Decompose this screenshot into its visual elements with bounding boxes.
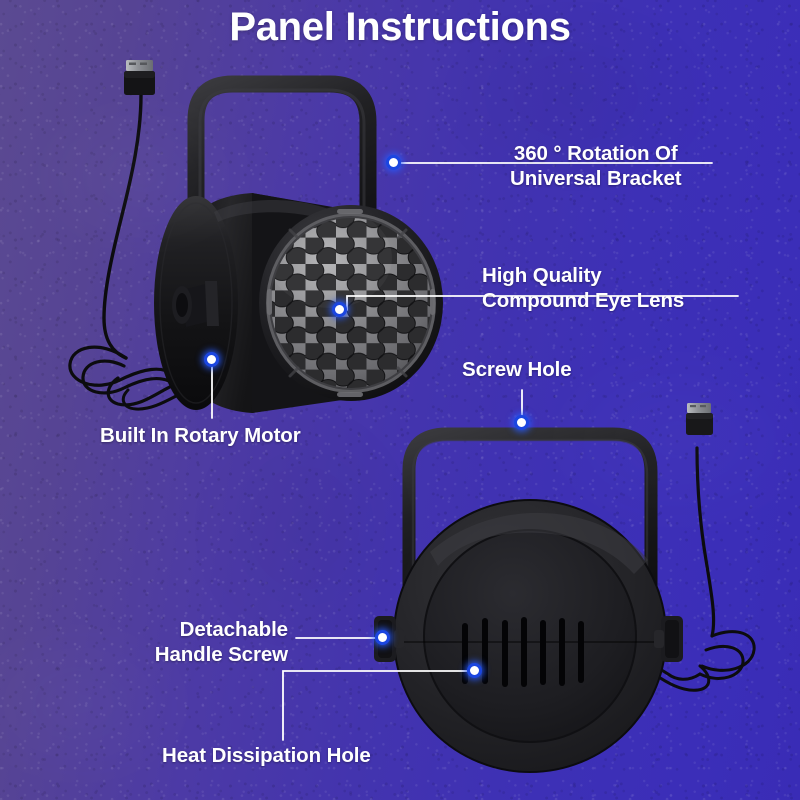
callout-dot-rotation[interactable] (386, 155, 401, 170)
usb-connector-rear (686, 403, 713, 435)
projector-rear-view (374, 403, 754, 772)
callout-label-screw-hole: Screw Hole (462, 357, 572, 382)
projector-front-view (70, 60, 444, 413)
callout-label-rotary-motor: Built In Rotary Motor (100, 423, 301, 448)
callout-dot-motor[interactable] (204, 352, 219, 367)
compound-eye-lens-front (259, 205, 444, 401)
callout-dot-lens[interactable] (332, 302, 347, 317)
page-title: Panel Instructions (0, 2, 800, 52)
callout-label-handle-screw: Detachable Handle Screw (148, 617, 288, 667)
infographic-canvas: Panel Instructions 360 ° Rotation Of Uni… (0, 0, 800, 800)
round-rear-body (394, 500, 666, 772)
callout-dot-handle-screw[interactable] (375, 630, 390, 645)
product-artwork (0, 0, 800, 800)
callout-label-lens: High Quality Compound Eye Lens (482, 263, 684, 313)
side-knob-front (172, 281, 219, 327)
callout-label-heat-hole: Heat Dissipation Hole (162, 743, 371, 768)
callout-label-rotation: 360 ° Rotation Of Universal Bracket (510, 141, 682, 191)
callout-dot-screw-hole[interactable] (514, 415, 529, 430)
callout-dot-heat-hole[interactable] (467, 663, 482, 678)
usb-connector-front (124, 60, 155, 95)
